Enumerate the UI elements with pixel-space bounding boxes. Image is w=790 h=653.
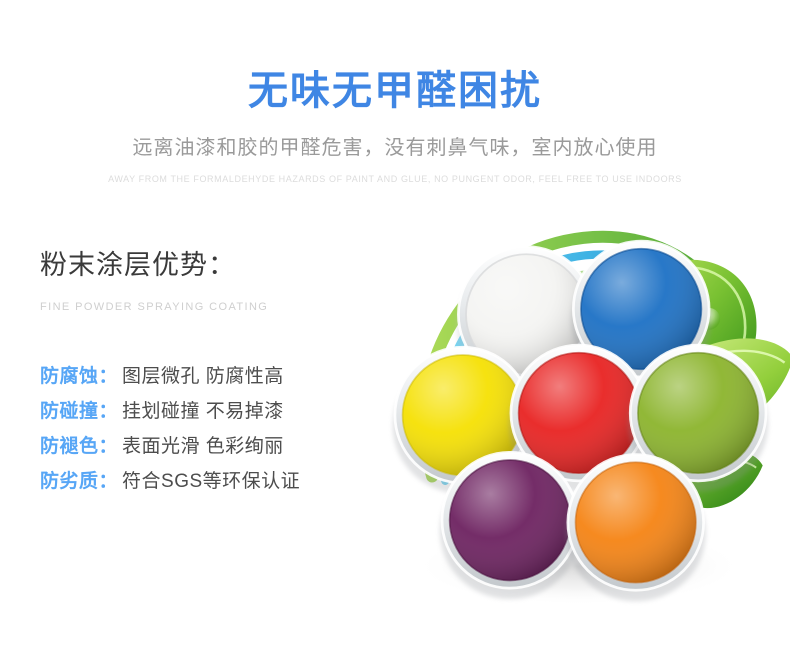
list-item: 防褪色： 表面光滑 色彩绚丽	[40, 432, 370, 467]
feature-value: 符合SGS等环保认证	[118, 467, 300, 497]
feature-label: 防腐蚀：	[40, 362, 118, 392]
feature-list: 防腐蚀： 图层微孔 防腐性高 防碰撞： 挂划碰撞 不易掉漆 防褪色： 表面光滑 …	[40, 362, 370, 502]
list-item: 防腐蚀： 图层微孔 防腐性高	[40, 362, 370, 397]
page-title: 无味无甲醛困扰	[0, 0, 790, 116]
list-item: 防劣质： 符合SGS等环保认证	[40, 467, 370, 502]
feature-label: 防劣质：	[40, 467, 118, 497]
advantages-heading-english: FINE POWDER SPRAYING COATING	[40, 283, 370, 314]
page-subtitle: 远离油漆和胶的甲醛危害，没有刺鼻气味，室内放心使用	[0, 116, 790, 161]
purple-powder-jar	[440, 452, 580, 599]
hero-header: 无味无甲醛困扰 远离油漆和胶的甲醛危害，没有刺鼻气味，室内放心使用 AWAY F…	[0, 0, 790, 185]
feature-label: 防褪色：	[40, 432, 118, 462]
list-item: 防碰撞： 挂划碰撞 不易掉漆	[40, 397, 370, 432]
feature-value: 图层微孔 防腐性高	[118, 362, 284, 392]
advantages-section: 粉末涂层优势： FINE POWDER SPRAYING COATING 防腐蚀…	[40, 247, 370, 314]
feature-value: 表面光滑 色彩绚丽	[118, 432, 284, 462]
advantages-heading: 粉末涂层优势：	[40, 247, 370, 283]
product-image	[372, 205, 790, 610]
orange-powder-jar	[566, 455, 706, 602]
page-subtitle-english: AWAY FROM THE FORMALDEHYDE HAZARDS OF PA…	[0, 161, 790, 185]
feature-value: 挂划碰撞 不易掉漆	[118, 397, 284, 427]
feature-label: 防碰撞：	[40, 397, 118, 427]
